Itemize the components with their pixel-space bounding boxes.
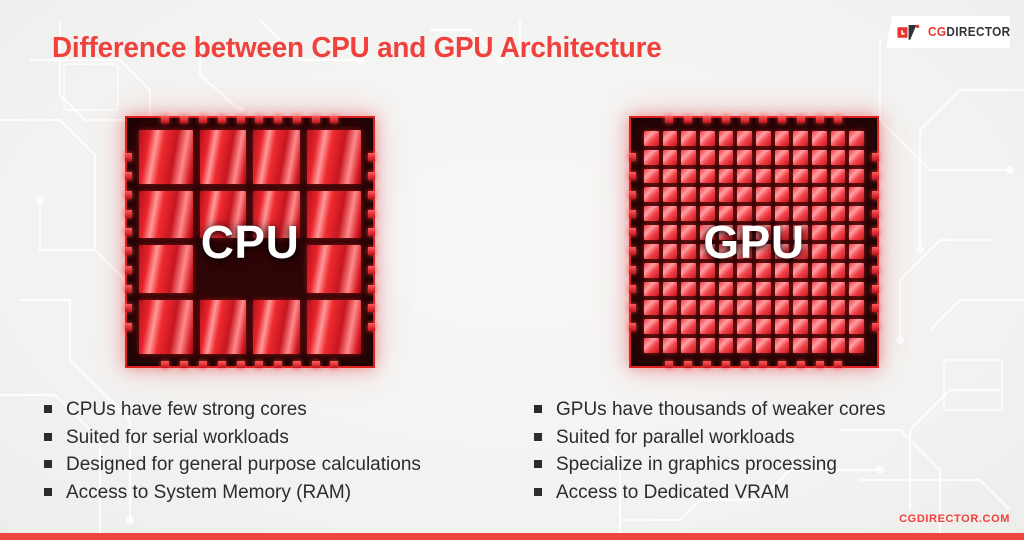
gpu-core-block	[644, 338, 659, 353]
chip-pin	[368, 304, 375, 312]
chip-pin	[872, 285, 879, 293]
gpu-core-block	[849, 263, 864, 278]
gpu-core-block	[756, 187, 771, 202]
list-item: Access to Dedicated VRAM	[534, 479, 1014, 507]
chip-pin	[629, 266, 636, 274]
gpu-core-block	[793, 263, 808, 278]
chip-pin	[125, 247, 132, 255]
chip-pin	[816, 361, 824, 368]
chip-pin	[330, 361, 338, 368]
gpu-core-block	[719, 169, 734, 184]
gpu-core-block	[737, 282, 752, 297]
chip-pin	[629, 210, 636, 218]
gpu-core-block	[831, 187, 846, 202]
gpu-core-block	[700, 319, 715, 334]
gpu-core-block	[793, 225, 808, 240]
gpu-core-block	[663, 225, 678, 240]
gpu-core-block	[737, 319, 752, 334]
chip-pin	[125, 210, 132, 218]
bullet-square-icon	[534, 488, 542, 496]
gpu-core-block	[663, 244, 678, 259]
gpu-core-block	[719, 131, 734, 146]
gpu-core-block	[849, 206, 864, 221]
gpu-core-block	[812, 131, 827, 146]
gpu-core-block	[681, 319, 696, 334]
chip-pin	[741, 116, 749, 123]
chip-pin	[293, 361, 301, 368]
chip-pin	[161, 116, 169, 123]
list-item: Designed for general purpose calculation…	[44, 451, 514, 479]
chip-pin	[161, 361, 169, 368]
chip-pin	[665, 361, 673, 368]
gpu-core-block	[756, 300, 771, 315]
chip-pin	[255, 116, 263, 123]
bullet-square-icon	[44, 488, 52, 496]
cpu-pins-right	[368, 153, 375, 332]
gpu-core-block	[700, 338, 715, 353]
gpu-core-block	[793, 206, 808, 221]
cpu-core-block	[139, 300, 193, 354]
chip-pin	[629, 285, 636, 293]
bullet-square-icon	[534, 433, 542, 441]
gpu-core-block	[756, 169, 771, 184]
chip-pin	[629, 172, 636, 180]
cgdirector-arrow-icon	[897, 24, 923, 41]
cpu-core-block	[139, 191, 193, 238]
cpu-pins-left	[125, 153, 132, 332]
list-item: CPUs have few strong cores	[44, 396, 514, 424]
gpu-core-block	[756, 244, 771, 259]
list-item: Specialize in graphics processing	[534, 451, 1014, 479]
cpu-pins-top	[161, 116, 338, 123]
gpu-core-block	[775, 150, 790, 165]
gpu-core-block	[663, 206, 678, 221]
cpu-core-block	[307, 130, 361, 184]
gpu-core-block	[831, 169, 846, 184]
chip-pin	[872, 266, 879, 274]
gpu-core-block	[719, 187, 734, 202]
gpu-core-block	[737, 169, 752, 184]
gpu-core-block	[849, 300, 864, 315]
gpu-core-block	[849, 244, 864, 259]
chip-pin	[759, 361, 767, 368]
chip-pin	[180, 116, 188, 123]
gpu-core-block	[793, 338, 808, 353]
gpu-core-block	[775, 225, 790, 240]
chip-pin	[199, 116, 207, 123]
chip-pin	[872, 172, 879, 180]
gpu-core-block	[700, 206, 715, 221]
bullet-square-icon	[534, 405, 542, 413]
chip-pin	[872, 304, 879, 312]
gpu-core-block	[719, 300, 734, 315]
chip-pin	[629, 247, 636, 255]
gpu-core-block	[812, 206, 827, 221]
gpu-core-block	[700, 169, 715, 184]
cpu-core-block	[307, 191, 361, 238]
chip-pin	[125, 153, 132, 161]
chip-pin	[368, 172, 375, 180]
gpu-core-block	[831, 244, 846, 259]
gpu-core-block	[700, 225, 715, 240]
gpu-core-block	[700, 131, 715, 146]
chip-pin	[255, 361, 263, 368]
chip-pin	[125, 266, 132, 274]
cpu-core-block	[139, 245, 193, 292]
chip-pin	[125, 228, 132, 236]
gpu-core-block	[663, 282, 678, 297]
gpu-core-block	[775, 263, 790, 278]
gpu-core-block	[775, 300, 790, 315]
gpu-core-block	[831, 263, 846, 278]
chip-pin	[834, 116, 842, 123]
list-item: Suited for parallel workloads	[534, 424, 1014, 452]
gpu-core-block	[831, 206, 846, 221]
gpu-core-block	[644, 263, 659, 278]
gpu-core-block	[644, 187, 659, 202]
gpu-core-block	[812, 263, 827, 278]
bullet-square-icon	[534, 460, 542, 468]
gpu-core-block	[681, 300, 696, 315]
chip-pin	[368, 285, 375, 293]
gpu-core-block	[793, 244, 808, 259]
gpu-core-block	[737, 225, 752, 240]
gpu-core-block	[831, 150, 846, 165]
list-item-label: Suited for parallel workloads	[556, 424, 795, 452]
chip-pin	[237, 116, 245, 123]
gpu-core-block	[681, 244, 696, 259]
brand-logo[interactable]: CGDIRECTOR	[886, 16, 1010, 48]
chip-pin	[684, 116, 692, 123]
gpu-core-block	[812, 187, 827, 202]
gpu-core-block	[644, 319, 659, 334]
brand-logo-text: CGDIRECTOR	[928, 25, 1011, 39]
chip-pin	[797, 116, 805, 123]
gpu-core-block	[831, 131, 846, 146]
gpu-core-block	[681, 206, 696, 221]
gpu-core-block	[681, 282, 696, 297]
chip-pin	[218, 116, 226, 123]
gpu-core-block	[793, 319, 808, 334]
chip-pin	[368, 191, 375, 199]
gpu-pins-top	[665, 116, 842, 123]
gpu-core-block	[719, 225, 734, 240]
chip-pin	[665, 116, 673, 123]
gpu-core-block	[737, 300, 752, 315]
gpu-core-block	[700, 300, 715, 315]
gpu-core-block	[663, 169, 678, 184]
gpu-core-block	[756, 150, 771, 165]
gpu-core-block	[849, 187, 864, 202]
gpu-core-block	[793, 131, 808, 146]
list-item-label: Designed for general purpose calculation…	[66, 451, 421, 479]
gpu-core-block	[737, 131, 752, 146]
cpu-feature-list: CPUs have few strong cores Suited for se…	[44, 396, 514, 507]
chip-pin	[125, 191, 132, 199]
gpu-core-block	[831, 319, 846, 334]
gpu-core-block	[812, 169, 827, 184]
gpu-feature-list: GPUs have thousands of weaker cores Suit…	[534, 396, 1014, 507]
gpu-core-block	[793, 300, 808, 315]
chip-pin	[629, 191, 636, 199]
chip-pin	[741, 361, 749, 368]
chip-pin	[368, 210, 375, 218]
cpu-die-center	[253, 245, 300, 292]
gpu-core-block	[644, 244, 659, 259]
chip-pin	[125, 323, 132, 331]
gpu-core-block	[700, 282, 715, 297]
gpu-core-block	[849, 169, 864, 184]
gpu-core-block	[831, 282, 846, 297]
page-title: Difference between CPU and GPU Architect…	[52, 32, 662, 65]
chip-pin	[797, 361, 805, 368]
gpu-core-block	[812, 282, 827, 297]
gpu-core-block	[775, 282, 790, 297]
chip-pin	[684, 361, 692, 368]
gpu-core-block	[793, 169, 808, 184]
gpu-core-block	[812, 319, 827, 334]
chip-pin	[312, 116, 320, 123]
list-item-label: Suited for serial workloads	[66, 424, 289, 452]
gpu-core-block	[663, 319, 678, 334]
gpu-core-block	[681, 150, 696, 165]
gpu-core-block	[719, 282, 734, 297]
gpu-core-block	[644, 282, 659, 297]
chip-pin	[778, 116, 786, 123]
bullet-square-icon	[44, 405, 52, 413]
chip-pin	[274, 361, 282, 368]
gpu-core-block	[719, 338, 734, 353]
gpu-core-block	[849, 338, 864, 353]
gpu-core-grid	[644, 131, 864, 353]
gpu-core-block	[663, 187, 678, 202]
gpu-core-block	[849, 225, 864, 240]
chip-pin	[218, 361, 226, 368]
gpu-core-block	[719, 150, 734, 165]
gpu-core-block	[775, 338, 790, 353]
chip-pin	[872, 247, 879, 255]
chip-pin	[703, 361, 711, 368]
bullet-square-icon	[44, 433, 52, 441]
gpu-core-block	[775, 169, 790, 184]
gpu-core-block	[831, 300, 846, 315]
chip-pin	[872, 153, 879, 161]
gpu-core-block	[663, 300, 678, 315]
gpu-core-block	[681, 263, 696, 278]
gpu-core-block	[719, 206, 734, 221]
gpu-core-block	[737, 150, 752, 165]
gpu-core-block	[812, 338, 827, 353]
gpu-core-block	[663, 131, 678, 146]
gpu-core-block	[849, 319, 864, 334]
gpu-core-block	[681, 225, 696, 240]
gpu-core-block	[812, 225, 827, 240]
chip-pin	[368, 323, 375, 331]
chip-pin	[125, 304, 132, 312]
gpu-core-block	[737, 338, 752, 353]
gpu-pins-bottom	[665, 361, 842, 368]
gpu-core-block	[831, 225, 846, 240]
gpu-core-block	[700, 263, 715, 278]
cpu-core-block	[307, 245, 361, 292]
chip-pin	[872, 210, 879, 218]
cpu-core-block	[200, 300, 247, 354]
list-item-label: CPUs have few strong cores	[66, 396, 307, 424]
chip-pin	[125, 172, 132, 180]
chip-pin	[722, 116, 730, 123]
gpu-core-block	[681, 169, 696, 184]
gpu-core-block	[849, 150, 864, 165]
gpu-core-block	[644, 225, 659, 240]
bullet-square-icon	[44, 460, 52, 468]
chip-pin	[759, 116, 767, 123]
gpu-core-block	[756, 131, 771, 146]
chip-pin	[180, 361, 188, 368]
gpu-core-block	[756, 282, 771, 297]
brand-logo-director: DIRECTOR	[946, 25, 1010, 39]
cpu-core-block	[139, 130, 193, 184]
cpu-core-block	[200, 191, 247, 238]
chip-pin	[312, 361, 320, 368]
chip-pin	[629, 304, 636, 312]
gpu-pins-right	[872, 153, 879, 332]
gpu-core-block	[775, 131, 790, 146]
chip-pin	[368, 247, 375, 255]
chip-pin	[703, 116, 711, 123]
cpu-core-block	[253, 130, 300, 184]
chip-pin	[872, 228, 879, 236]
gpu-core-block	[756, 225, 771, 240]
gpu-core-block	[793, 150, 808, 165]
gpu-core-block	[756, 338, 771, 353]
gpu-core-block	[793, 282, 808, 297]
footer-url[interactable]: CGDIRECTOR.COM	[899, 513, 1010, 525]
gpu-core-block	[681, 131, 696, 146]
gpu-core-block	[756, 319, 771, 334]
list-item: GPUs have thousands of weaker cores	[534, 396, 1014, 424]
chip-pin	[872, 323, 879, 331]
gpu-core-block	[663, 263, 678, 278]
gpu-core-block	[775, 244, 790, 259]
list-item-label: Access to System Memory (RAM)	[66, 479, 351, 507]
cpu-die-center	[200, 245, 247, 292]
gpu-core-block	[737, 263, 752, 278]
chip-pin	[368, 266, 375, 274]
gpu-core-block	[719, 263, 734, 278]
gpu-core-block	[644, 131, 659, 146]
gpu-core-block	[663, 338, 678, 353]
brand-logo-cg: CG	[928, 25, 946, 39]
gpu-core-block	[644, 206, 659, 221]
chip-pin	[368, 153, 375, 161]
gpu-chip-diagram: GPU	[629, 116, 879, 368]
chip-pin	[199, 361, 207, 368]
gpu-core-block	[812, 244, 827, 259]
list-item-label: Access to Dedicated VRAM	[556, 479, 789, 507]
cpu-core-block	[253, 300, 300, 354]
chip-pin	[629, 228, 636, 236]
cpu-chip-diagram: CPU	[125, 116, 375, 368]
gpu-core-block	[644, 150, 659, 165]
list-item: Suited for serial workloads	[44, 424, 514, 452]
gpu-core-block	[644, 300, 659, 315]
cpu-core-block	[200, 130, 247, 184]
gpu-core-block	[756, 263, 771, 278]
gpu-core-block	[831, 338, 846, 353]
chip-pin	[816, 116, 824, 123]
cpu-pins-bottom	[161, 361, 338, 368]
chip-pin	[237, 361, 245, 368]
gpu-core-block	[812, 300, 827, 315]
chip-pin	[330, 116, 338, 123]
chip-pin	[722, 361, 730, 368]
gpu-core-block	[700, 244, 715, 259]
chip-pin	[834, 361, 842, 368]
gpu-core-block	[644, 169, 659, 184]
gpu-core-block	[812, 150, 827, 165]
cpu-core-grid	[139, 130, 361, 354]
gpu-core-block	[775, 319, 790, 334]
gpu-core-block	[700, 150, 715, 165]
chip-pin	[778, 361, 786, 368]
chip-pin	[274, 116, 282, 123]
gpu-pins-left	[629, 153, 636, 332]
chip-pin	[125, 285, 132, 293]
gpu-core-block	[849, 131, 864, 146]
gpu-core-block	[681, 338, 696, 353]
chip-pin	[629, 153, 636, 161]
footer-accent-bar	[0, 533, 1024, 540]
chip-pin	[293, 116, 301, 123]
gpu-core-block	[719, 319, 734, 334]
gpu-core-block	[775, 187, 790, 202]
gpu-core-block	[775, 206, 790, 221]
gpu-core-block	[737, 244, 752, 259]
gpu-core-block	[793, 187, 808, 202]
gpu-core-block	[737, 187, 752, 202]
gpu-core-block	[681, 187, 696, 202]
chip-pin	[629, 323, 636, 331]
list-item-label: Specialize in graphics processing	[556, 451, 837, 479]
cpu-core-block	[307, 300, 361, 354]
cpu-core-block	[253, 191, 300, 238]
gpu-core-block	[663, 150, 678, 165]
chip-pin	[368, 228, 375, 236]
chip-pin	[872, 191, 879, 199]
gpu-core-block	[700, 187, 715, 202]
gpu-core-block	[756, 206, 771, 221]
gpu-core-block	[737, 206, 752, 221]
list-item: Access to System Memory (RAM)	[44, 479, 514, 507]
gpu-core-block	[849, 282, 864, 297]
gpu-core-block	[719, 244, 734, 259]
list-item-label: GPUs have thousands of weaker cores	[556, 396, 886, 424]
